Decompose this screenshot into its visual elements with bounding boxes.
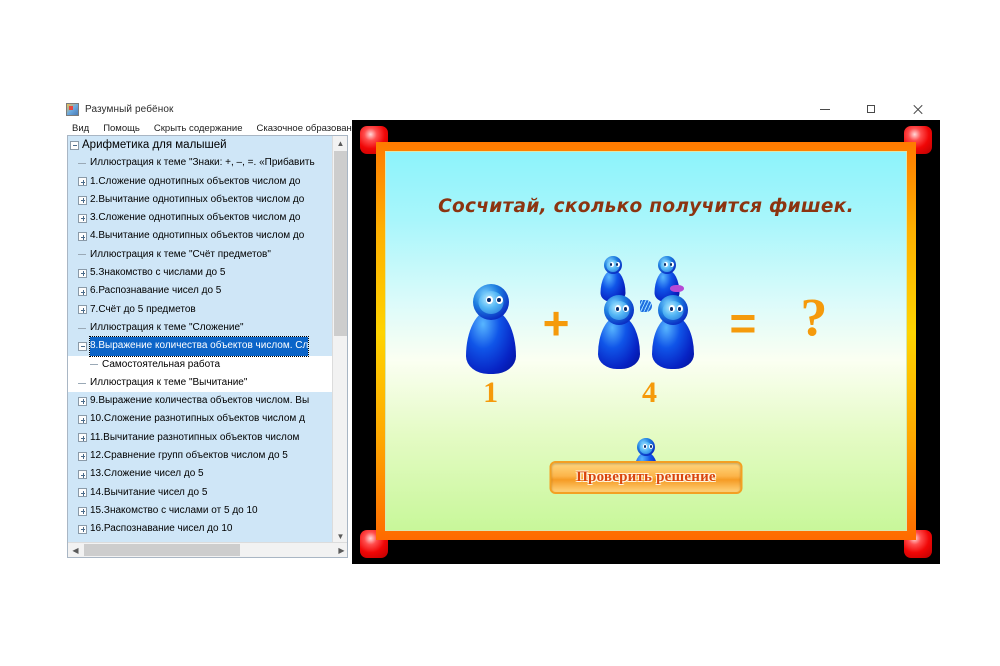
tree-item[interactable]: Иллюстрация к теме "Знаки: +, –, =. «При…: [68, 154, 332, 172]
pawn-eye-right: [677, 305, 683, 312]
chevron-down-icon: ▼: [337, 532, 345, 541]
tree-item-label: Арифметика для малышей: [82, 136, 227, 154]
lesson-canvas: Сосчитай, сколько получится фишек.: [385, 151, 907, 531]
scroll-right-button[interactable]: ▶: [334, 543, 348, 557]
bow-icon: [670, 285, 684, 292]
expand-plus-icon[interactable]: [78, 470, 87, 479]
tree-item[interactable]: 13.Сложение чисел до 5: [68, 465, 332, 483]
tree-connector-icon: [90, 360, 99, 369]
pawn-eye-left: [643, 444, 647, 449]
pawn-eye-left: [610, 262, 614, 267]
contents-tree-panel[interactable]: Арифметика для малышейИллюстрация к теме…: [67, 135, 348, 558]
pawn-stack-right: [650, 256, 704, 374]
tree-horizontal-scroll-thumb[interactable]: [84, 544, 240, 556]
pawn-front-wrapper: [651, 295, 695, 374]
tree-item[interactable]: 5.Знакомство с числами до 5: [68, 264, 332, 282]
close-button[interactable]: [894, 96, 940, 122]
tree-item-label: 9.Выражение количества объектов числом. …: [90, 392, 309, 410]
app-icon: [66, 103, 79, 116]
collapse-minus-icon[interactable]: [70, 141, 79, 150]
pawn-figure: [597, 295, 641, 369]
expand-plus-icon[interactable]: [78, 214, 87, 223]
tree-item-label: 3.Сложение однотипных объектов числом до: [90, 209, 301, 227]
tree-item[interactable]: 10.Сложение разнотипных объектов числом …: [68, 410, 332, 428]
tree-item[interactable]: 4.Вычитание однотипных объектов числом д…: [68, 227, 332, 245]
tree-item-label: 6.Распознавание чисел до 5: [90, 282, 221, 300]
tree-item-label: 12.Сравнение групп объектов числом до 5: [90, 447, 288, 465]
pawn-eye-right: [616, 262, 620, 267]
pawn-eye-left: [486, 296, 493, 304]
left-pieces: [465, 256, 517, 374]
pawn-head: [604, 256, 622, 274]
tree-item[interactable]: Иллюстрация к теме "Вычитание": [68, 374, 332, 392]
expand-plus-icon[interactable]: [78, 452, 87, 461]
pawn-eye-right: [623, 305, 629, 312]
tree-item-label: 7.Счёт до 5 предметов: [90, 301, 196, 319]
expand-plus-icon[interactable]: [78, 507, 87, 516]
menu-item-help[interactable]: Помощь: [96, 121, 147, 136]
lesson-frame: Сосчитай, сколько получится фишек.: [376, 142, 916, 540]
scroll-left-button[interactable]: ◀: [68, 543, 83, 557]
equation-row: 1 +: [404, 256, 888, 416]
tree-item[interactable]: 11.Вычитание разнотипных объектов числом: [68, 429, 332, 447]
application-window: Разумный ребёнок Вид Помощь Скрыть содер…: [62, 96, 940, 564]
screenshot-root: Разумный ребёнок Вид Помощь Скрыть содер…: [0, 0, 1000, 666]
tree-item-label: Иллюстрация к теме "Счёт предметов": [90, 246, 271, 264]
window-controls: [802, 96, 940, 122]
right-count-label: 4: [642, 378, 657, 408]
tree-item-label: Самостоятельная работа: [102, 356, 220, 374]
tree-item-label: 4.Вычитание однотипных объектов числом д…: [90, 227, 304, 245]
tree-horizontal-scrollbar[interactable]: ◀ ▶: [68, 542, 348, 557]
tree-item[interactable]: Иллюстрация к теме "Счёт предметов": [68, 246, 332, 264]
minimize-icon: [820, 109, 830, 110]
tree-item[interactable]: 14.Вычитание чисел до 5: [68, 484, 332, 502]
tree-item-label: 11.Вычитание разнотипных объектов числом: [90, 429, 299, 447]
pawn-eye-right: [649, 444, 653, 449]
check-solution-button[interactable]: Проверить решение: [550, 461, 743, 494]
tree-vertical-scrollbar[interactable]: ▲ ▼: [332, 136, 347, 544]
collapse-minus-icon[interactable]: [78, 342, 87, 351]
tree-item[interactable]: 3.Сложение однотипных объектов числом до: [68, 209, 332, 227]
pawn-head: [658, 256, 676, 274]
expand-plus-icon[interactable]: [78, 269, 87, 278]
tree-item-label: 2.Вычитание однотипных объектов числом д…: [90, 191, 304, 209]
pawn-head: [658, 295, 688, 325]
plus-operator: +: [543, 256, 570, 346]
left-count-label: 1: [483, 378, 498, 408]
tree-item-label: Иллюстрация к теме "Сложение": [90, 319, 244, 337]
tree-item-label: 14.Вычитание чисел до 5: [90, 484, 207, 502]
tree-item-label: Иллюстрация к теме "Вычитание": [90, 374, 247, 392]
tree-item-label: Иллюстрация к теме "Знаки: +, –, =. «При…: [90, 154, 315, 172]
tree-connector-icon: [78, 159, 87, 168]
pawn-eye-left: [664, 262, 668, 267]
tree-item[interactable]: 9.Выражение количества объектов числом. …: [68, 392, 332, 410]
chevron-right-icon: ▶: [338, 546, 344, 555]
pawn-eye-left: [669, 305, 675, 312]
menu-item-view[interactable]: Вид: [65, 121, 96, 136]
contents-tree[interactable]: Арифметика для малышейИллюстрация к теме…: [68, 136, 332, 544]
hair-tuft-icon: [640, 300, 652, 312]
expand-plus-icon[interactable]: [78, 232, 87, 241]
tree-item[interactable]: 15.Знакомство с числами от 5 до 10: [68, 502, 332, 520]
expand-plus-icon[interactable]: [78, 415, 87, 424]
tree-item-label: 13.Сложение чисел до 5: [90, 465, 204, 483]
pawn-head: [473, 284, 509, 320]
expand-plus-icon[interactable]: [78, 397, 87, 406]
tree-item-label: 5.Знакомство с числами до 5: [90, 264, 225, 282]
tree-item[interactable]: Иллюстрация к теме "Сложение": [68, 319, 332, 337]
pawn-head: [637, 438, 655, 456]
tree-item[interactable]: 8.Выражение количества объектов числом. …: [68, 337, 332, 355]
expand-plus-icon[interactable]: [78, 525, 87, 534]
minimize-button[interactable]: [802, 96, 848, 122]
tree-item[interactable]: Самостоятельная работа: [68, 356, 332, 374]
equals-operator: =: [730, 256, 757, 346]
tree-vertical-scroll-thumb[interactable]: [334, 151, 347, 336]
chevron-up-icon: ▲: [337, 139, 345, 148]
tree-item[interactable]: 2.Вычитание однотипных объектов числом д…: [68, 191, 332, 209]
equation-right-group: 4: [596, 256, 704, 408]
tree-item[interactable]: 1.Сложение однотипных объектов числом до: [68, 173, 332, 191]
pawn-eye-right: [496, 296, 503, 304]
result-placeholder: ?: [800, 256, 827, 344]
maximize-icon: [867, 105, 875, 113]
chevron-left-icon: ◀: [72, 546, 78, 555]
pawn-eye-right: [670, 262, 674, 267]
tree-item-label: 8.Выражение количества объектов числом. …: [90, 337, 308, 355]
pawn-front-wrapper: [597, 295, 641, 374]
tree-item[interactable]: 16.Распознавание чисел до 10: [68, 520, 332, 538]
check-solution-label: Проверить решение: [576, 469, 716, 486]
expand-plus-icon[interactable]: [78, 287, 87, 296]
pawn-stack-left: [596, 256, 650, 374]
lesson-stage: Сосчитай, сколько получится фишек.: [352, 120, 940, 564]
tree-connector-icon: [78, 250, 87, 259]
tree-item-label: 16.Распознавание чисел до 10: [90, 520, 232, 538]
expand-plus-icon[interactable]: [78, 433, 87, 442]
expand-plus-icon[interactable]: [78, 196, 87, 205]
tree-item-label: 15.Знакомство с числами от 5 до 10: [90, 502, 258, 520]
maximize-button[interactable]: [848, 96, 894, 122]
tree-connector-icon: [78, 379, 87, 388]
right-pieces: [596, 256, 704, 374]
tree-item[interactable]: 7.Счёт до 5 предметов: [68, 301, 332, 319]
tree-item-label: 10.Сложение разнотипных объектов числом …: [90, 410, 305, 428]
tree-item[interactable]: Арифметика для малышей: [68, 136, 332, 154]
menu-item-hide-contents[interactable]: Скрыть содержание: [147, 121, 250, 136]
lesson-title: Сосчитай, сколько получится фишек.: [386, 196, 906, 217]
expand-plus-icon[interactable]: [78, 488, 87, 497]
tree-item[interactable]: 6.Распознавание чисел до 5: [68, 282, 332, 300]
title-bar: Разумный ребёнок: [62, 96, 940, 122]
expand-plus-icon[interactable]: [78, 177, 87, 186]
pawn-head: [604, 295, 634, 325]
scroll-up-button[interactable]: ▲: [333, 136, 348, 151]
equation-left-group: 1: [465, 256, 517, 408]
expand-plus-icon[interactable]: [78, 305, 87, 314]
tree-connector-icon: [78, 324, 87, 333]
pawn-figure: [465, 284, 517, 374]
close-icon: [912, 104, 922, 114]
pawn-eye-left: [615, 305, 621, 312]
tree-item[interactable]: 12.Сравнение групп объектов числом до 5: [68, 447, 332, 465]
tree-item-label: 1.Сложение однотипных объектов числом до: [90, 173, 301, 191]
window-title: Разумный ребёнок: [85, 104, 173, 115]
pawn-figure: [651, 295, 695, 369]
